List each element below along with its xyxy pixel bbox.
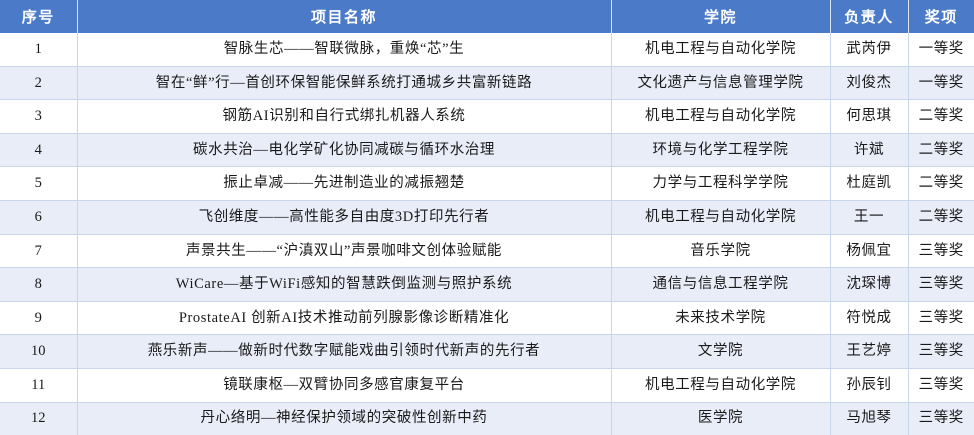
cell-name: 碳水共治—电化学矿化协同减碳与循环水治理 bbox=[77, 133, 611, 167]
cell-leader: 马旭琴 bbox=[830, 402, 908, 435]
cell-name: WiCare—基于WiFi感知的智慧跌倒监测与照护系统 bbox=[77, 268, 611, 302]
table-row: 12丹心络明—神经保护领域的突破性创新中药医学院马旭琴三等奖 bbox=[0, 402, 974, 435]
cell-award: 三等奖 bbox=[908, 234, 974, 268]
cell-college: 机电工程与自动化学院 bbox=[611, 368, 830, 402]
table-row: 5振止卓减——先进制造业的减振翘楚力学与工程科学学院杜庭凯二等奖 bbox=[0, 167, 974, 201]
cell-college: 医学院 bbox=[611, 402, 830, 435]
cell-leader: 杨佩宜 bbox=[830, 234, 908, 268]
cell-college: 环境与化学工程学院 bbox=[611, 133, 830, 167]
cell-name: 声景共生——“沪滇双山”声景咖啡文创体验赋能 bbox=[77, 234, 611, 268]
cell-seq: 6 bbox=[0, 200, 77, 234]
column-header-sequence: 序号 bbox=[0, 0, 77, 33]
cell-leader: 刘俊杰 bbox=[830, 66, 908, 100]
table-row: 11镜联康枢—双臂协同多感官康复平台机电工程与自动化学院孙辰钊三等奖 bbox=[0, 368, 974, 402]
table-row: 2智在“鲜”行—首创环保智能保鲜系统打通城乡共富新链路文化遗产与信息管理学院刘俊… bbox=[0, 66, 974, 100]
table-row: 7声景共生——“沪滇双山”声景咖啡文创体验赋能音乐学院杨佩宜三等奖 bbox=[0, 234, 974, 268]
cell-college: 音乐学院 bbox=[611, 234, 830, 268]
cell-leader: 何思琪 bbox=[830, 100, 908, 134]
cell-leader: 王艺婷 bbox=[830, 335, 908, 369]
cell-name: 钢筋AI识别和自行式绑扎机器人系统 bbox=[77, 100, 611, 134]
table-row: 3钢筋AI识别和自行式绑扎机器人系统机电工程与自动化学院何思琪二等奖 bbox=[0, 100, 974, 134]
cell-college: 力学与工程科学学院 bbox=[611, 167, 830, 201]
table-header: 序号 项目名称 学院 负责人 奖项 bbox=[0, 0, 974, 33]
cell-college: 机电工程与自动化学院 bbox=[611, 200, 830, 234]
cell-college: 文学院 bbox=[611, 335, 830, 369]
cell-seq: 11 bbox=[0, 368, 77, 402]
column-header-project-name: 项目名称 bbox=[77, 0, 611, 33]
cell-award: 三等奖 bbox=[908, 301, 974, 335]
cell-award: 三等奖 bbox=[908, 368, 974, 402]
award-projects-table: 序号 项目名称 学院 负责人 奖项 1智脉生芯——智联微脉，重焕“芯”生机电工程… bbox=[0, 0, 974, 435]
cell-seq: 7 bbox=[0, 234, 77, 268]
cell-seq: 12 bbox=[0, 402, 77, 435]
header-row: 序号 项目名称 学院 负责人 奖项 bbox=[0, 0, 974, 33]
cell-award: 一等奖 bbox=[908, 33, 974, 66]
cell-name: 燕乐新声——做新时代数字赋能戏曲引领时代新声的先行者 bbox=[77, 335, 611, 369]
cell-seq: 9 bbox=[0, 301, 77, 335]
cell-college: 文化遗产与信息管理学院 bbox=[611, 66, 830, 100]
cell-leader: 许斌 bbox=[830, 133, 908, 167]
cell-leader: 王一 bbox=[830, 200, 908, 234]
table-row: 1智脉生芯——智联微脉，重焕“芯”生机电工程与自动化学院武芮伊一等奖 bbox=[0, 33, 974, 66]
cell-award: 三等奖 bbox=[908, 335, 974, 369]
cell-award: 三等奖 bbox=[908, 268, 974, 302]
cell-seq: 2 bbox=[0, 66, 77, 100]
table-row: 4碳水共治—电化学矿化协同减碳与循环水治理环境与化学工程学院许斌二等奖 bbox=[0, 133, 974, 167]
cell-name: 振止卓减——先进制造业的减振翘楚 bbox=[77, 167, 611, 201]
cell-award: 二等奖 bbox=[908, 100, 974, 134]
cell-name: 丹心络明—神经保护领域的突破性创新中药 bbox=[77, 402, 611, 435]
table-row: 9ProstateAI 创新AI技术推动前列腺影像诊断精准化未来技术学院符悦成三… bbox=[0, 301, 974, 335]
table-row: 6飞创维度——高性能多自由度3D打印先行者机电工程与自动化学院王一二等奖 bbox=[0, 200, 974, 234]
cell-leader: 孙辰钊 bbox=[830, 368, 908, 402]
cell-award: 二等奖 bbox=[908, 167, 974, 201]
cell-seq: 5 bbox=[0, 167, 77, 201]
cell-award: 二等奖 bbox=[908, 133, 974, 167]
cell-name: 飞创维度——高性能多自由度3D打印先行者 bbox=[77, 200, 611, 234]
cell-seq: 1 bbox=[0, 33, 77, 66]
cell-leader: 杜庭凯 bbox=[830, 167, 908, 201]
cell-name: 智在“鲜”行—首创环保智能保鲜系统打通城乡共富新链路 bbox=[77, 66, 611, 100]
table-row: 8WiCare—基于WiFi感知的智慧跌倒监测与照护系统通信与信息工程学院沈琛博… bbox=[0, 268, 974, 302]
column-header-college: 学院 bbox=[611, 0, 830, 33]
cell-seq: 8 bbox=[0, 268, 77, 302]
cell-college: 机电工程与自动化学院 bbox=[611, 33, 830, 66]
cell-name: ProstateAI 创新AI技术推动前列腺影像诊断精准化 bbox=[77, 301, 611, 335]
cell-award: 二等奖 bbox=[908, 200, 974, 234]
cell-college: 通信与信息工程学院 bbox=[611, 268, 830, 302]
cell-college: 未来技术学院 bbox=[611, 301, 830, 335]
table-body: 1智脉生芯——智联微脉，重焕“芯”生机电工程与自动化学院武芮伊一等奖2智在“鲜”… bbox=[0, 33, 974, 435]
cell-award: 三等奖 bbox=[908, 402, 974, 435]
column-header-award: 奖项 bbox=[908, 0, 974, 33]
cell-leader: 沈琛博 bbox=[830, 268, 908, 302]
table-row: 10燕乐新声——做新时代数字赋能戏曲引领时代新声的先行者文学院王艺婷三等奖 bbox=[0, 335, 974, 369]
cell-seq: 3 bbox=[0, 100, 77, 134]
cell-college: 机电工程与自动化学院 bbox=[611, 100, 830, 134]
cell-leader: 符悦成 bbox=[830, 301, 908, 335]
cell-seq: 10 bbox=[0, 335, 77, 369]
cell-leader: 武芮伊 bbox=[830, 33, 908, 66]
column-header-leader: 负责人 bbox=[830, 0, 908, 33]
cell-award: 一等奖 bbox=[908, 66, 974, 100]
cell-seq: 4 bbox=[0, 133, 77, 167]
cell-name: 镜联康枢—双臂协同多感官康复平台 bbox=[77, 368, 611, 402]
cell-name: 智脉生芯——智联微脉，重焕“芯”生 bbox=[77, 33, 611, 66]
